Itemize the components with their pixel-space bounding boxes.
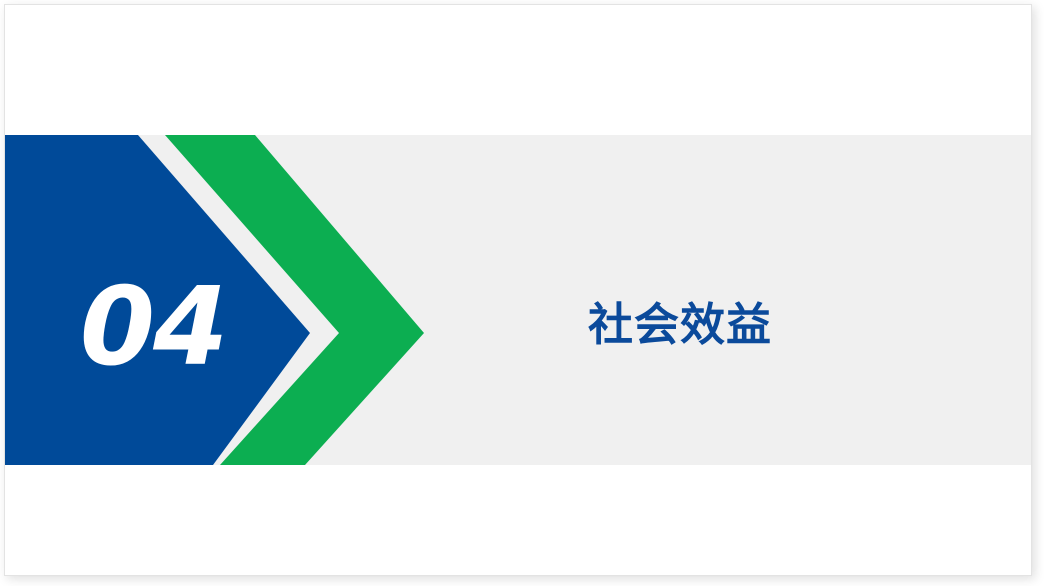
section-number: 04 (63, 263, 243, 393)
section-title: 社会效益 (588, 295, 772, 355)
slide-viewport: 04 社会效益 (0, 0, 1044, 586)
slide-card[interactable]: 04 社会效益 (5, 5, 1031, 575)
